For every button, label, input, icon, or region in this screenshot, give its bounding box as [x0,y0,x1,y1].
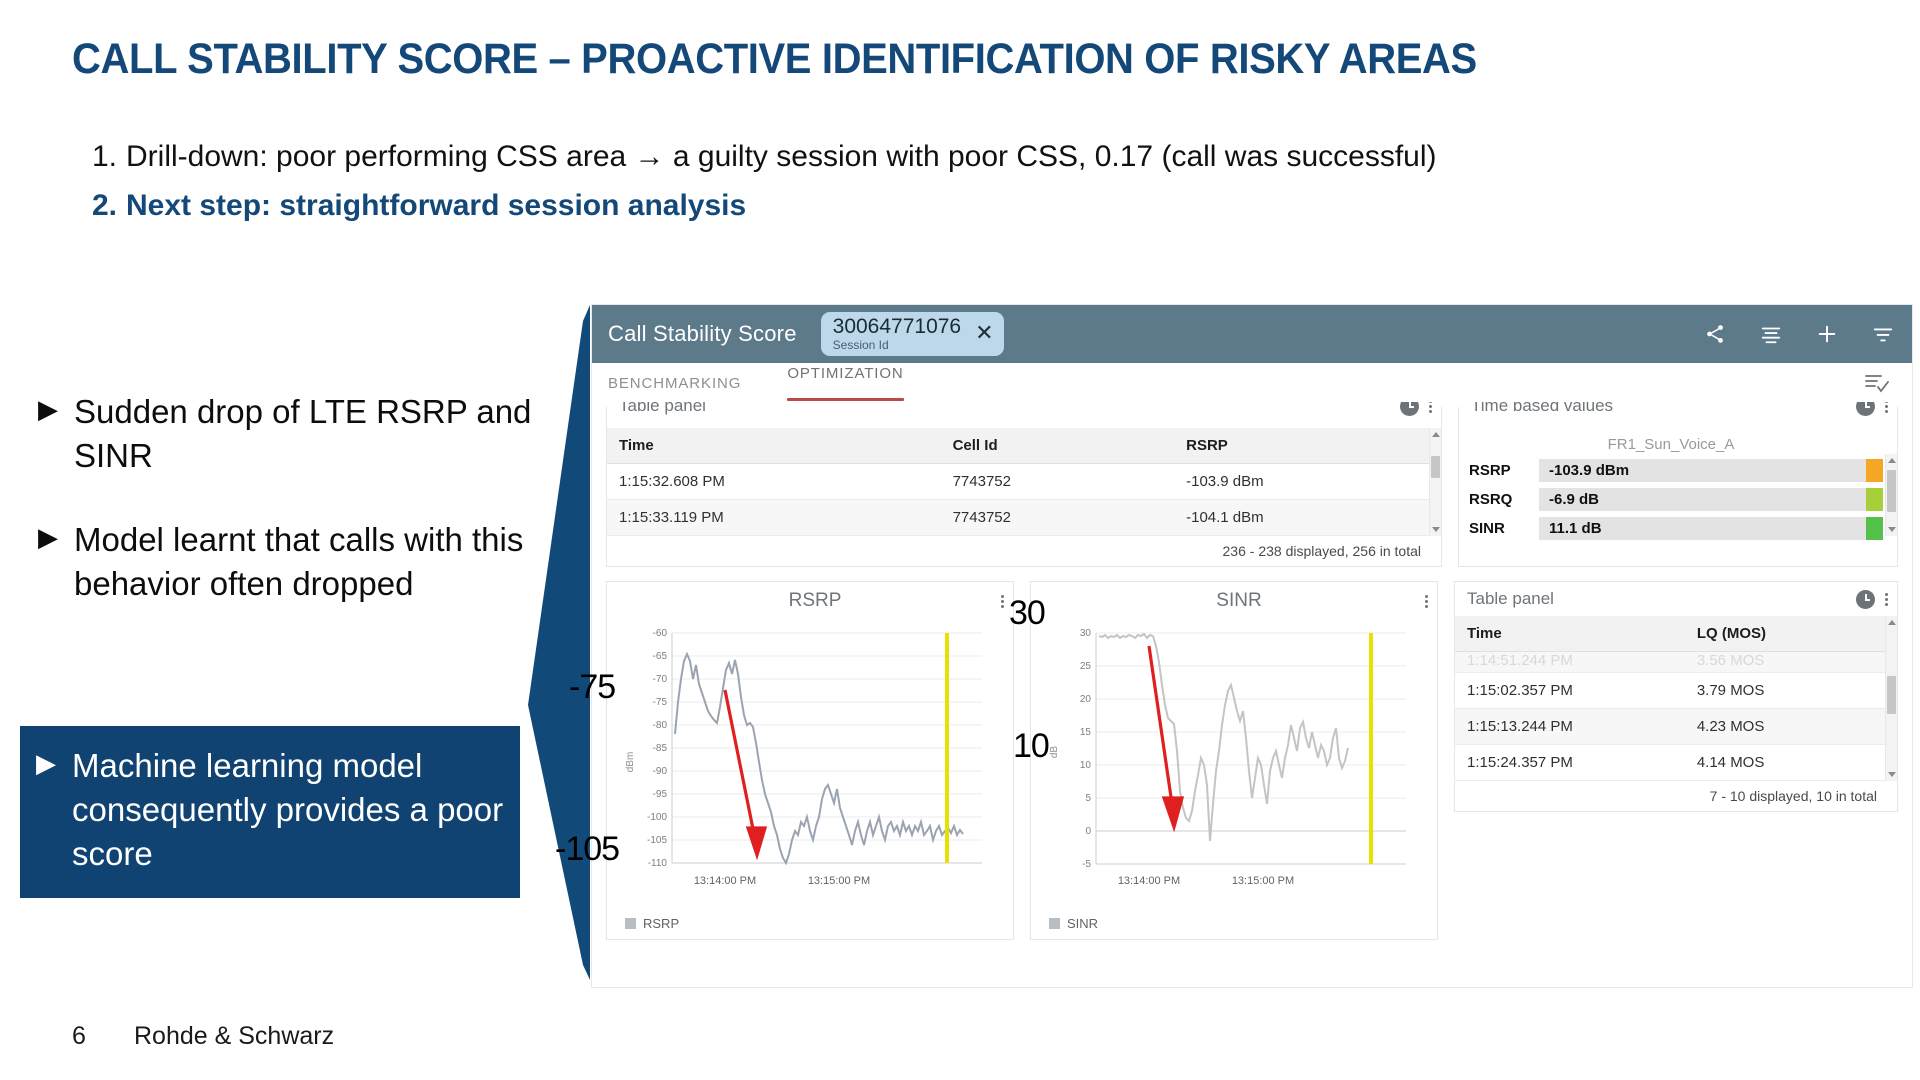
svg-text:30: 30 [1080,628,1092,639]
tbv-status-cap [1866,517,1883,540]
panel-title: Table panel [1467,589,1554,609]
svg-text:-75: -75 [653,697,668,708]
svg-text:-85: -85 [653,743,668,754]
share-icon[interactable] [1704,323,1726,345]
list-number: 2. [92,185,126,227]
cell-time: 1:14:51.244 PM [1455,652,1685,673]
bullet-list: ▶ Sudden drop of LTE RSRP and SINR ▶ Mod… [38,390,548,646]
chart-legend: SINR [1031,912,1437,939]
app-header-actions [1704,323,1898,345]
svg-text:-5: -5 [1082,859,1091,870]
scrollbar-thumb[interactable] [1887,470,1896,512]
annotation-rsrp-high: -75 [569,668,615,707]
column-header-time[interactable]: Time [607,428,941,464]
cell-mos: 3.56 MOS [1685,652,1897,673]
table-row[interactable]: 1:15:24.357 PM 4.14 MOS [1455,745,1897,781]
bullet-text: Machine learning model consequently prov… [72,744,504,876]
svg-text:13:14:00 PM: 13:14:00 PM [1118,875,1180,887]
app-header: Call Stability Score 30064771076 Session… [592,305,1912,363]
highlight-callout-box: ▶ Machine learning model consequently pr… [20,726,520,898]
legend-swatch-sinr [1049,918,1060,929]
annotation-rsrp-low: -105 [555,830,619,869]
kebab-menu-icon[interactable] [1001,595,1005,608]
clock-icon[interactable] [1856,402,1875,416]
svg-text:10: 10 [1080,760,1092,771]
column-header-lq-mos[interactable]: LQ (MOS) [1685,616,1897,652]
tbv-value: 11.1 dB [1539,520,1602,537]
table-row[interactable]: 1:15:13.244 PM 4.23 MOS [1455,709,1897,745]
tbv-value: -103.9 dBm [1539,462,1629,479]
align-list-icon[interactable] [1760,323,1782,345]
cell-cellid: 7743752 [941,464,1175,500]
panel-row-bottom: RSRP -60 -65 -70 -75 -80 -85 -90 -9 [592,567,1912,940]
scroll-down-arrow-icon[interactable] [1888,527,1896,532]
brand-name: Rohde & Schwarz [134,1022,334,1050]
kebab-menu-icon[interactable] [1885,402,1889,413]
filter-icon[interactable] [1872,323,1894,345]
close-icon[interactable]: ✕ [975,322,993,344]
vertical-scrollbar[interactable] [1885,454,1897,536]
callout-pointer-arrow [528,305,590,980]
legend-swatch-rsrp [625,918,636,929]
table-row[interactable]: 1:15:32.608 PM 7743752 -103.9 dBm [607,464,1441,500]
cell-rsrp: -104.1 dBm [1174,500,1441,536]
panel-header: Table panel [607,402,1441,428]
slide-footer: 6Rohde & Schwarz [72,1022,334,1051]
table-row[interactable]: 1:15:02.357 PM 3.79 MOS [1455,673,1897,709]
tbv-row-rsrq: RSRQ -6.9 dB [1459,488,1883,511]
panel-title: Time based values [1471,402,1613,416]
svg-text:-70: -70 [653,674,668,685]
scroll-down-arrow-icon[interactable] [1888,772,1896,777]
vertical-scrollbar[interactable] [1885,616,1897,781]
triangle-bullet-icon: ▶ [38,392,68,427]
panel-row-top: Table panel Time Cell Id RSRP [592,401,1912,567]
scroll-up-arrow-icon[interactable] [1888,620,1896,625]
cell-mos: 4.14 MOS [1685,745,1897,781]
svg-text:5: 5 [1085,793,1091,804]
bullet-item-poor-score: ▶ Machine learning model consequently pr… [36,744,504,876]
cell-time: 1:15:32.608 PM [607,464,941,500]
chart-title: RSRP [607,590,1001,612]
cell-time: 1:15:33.119 PM [607,500,941,536]
session-id-label: Session Id [833,339,961,352]
column-header-cellid[interactable]: Cell Id [941,428,1175,464]
page-number: 6 [72,1022,134,1051]
svg-text:0: 0 [1085,826,1091,837]
cell-time: 1:15:02.357 PM [1455,673,1685,709]
bullet-text: Model learnt that calls with this behavi… [74,518,548,606]
chart-plot-area: -60 -65 -70 -75 -80 -85 -90 -95 -100 -10… [607,612,1013,912]
svg-text:dBm: dBm [625,752,636,773]
svg-text:13:14:00 PM: 13:14:00 PM [694,875,756,887]
legend-label-rsrp: RSRP [643,916,679,931]
table-header-row: Time LQ (MOS) [1455,616,1897,652]
tbv-column-header: FR1_Sun_Voice_A [1459,428,1883,459]
svg-text:-105: -105 [647,835,667,846]
chart-header: SINR [1031,582,1437,612]
table-row[interactable]: 1:15:33.119 PM 7743752 -104.1 dBm [607,500,1441,536]
triangle-bullet-icon: ▶ [36,746,66,781]
bullet-item-rsrp-sinr-drop: ▶ Sudden drop of LTE RSRP and SINR [38,390,548,478]
tab-benchmarking[interactable]: BENCHMARKING [608,375,741,396]
chart-panel-rsrp: RSRP -60 -65 -70 -75 -80 -85 -90 -9 [606,581,1014,940]
annotation-sinr-high: 30 [1009,594,1045,633]
chart-legend: RSRP [607,912,1013,939]
svg-text:-90: -90 [653,766,668,777]
chart-plot-area: 30 25 20 15 10 5 0 -5 dB [1031,612,1437,912]
triangle-bullet-icon: ▶ [38,520,68,555]
list-number: 1. [92,136,126,178]
numbered-list-item: 1. Drill-down: poor performing CSS area … [92,136,1852,178]
chart-title: SINR [1031,590,1425,612]
time-based-values-panel: Time based values FR1_Sun_Voice_A RSRP -… [1458,401,1898,567]
clock-icon[interactable] [1856,590,1875,609]
panel-header: Time based values [1459,402,1897,428]
cell-mos: 3.79 MOS [1685,673,1897,709]
vertical-scrollbar[interactable] [1429,428,1441,536]
tbv-row-rsrp: RSRP -103.9 dBm [1459,459,1883,482]
bullet-text: Sudden drop of LTE RSRP and SINR [74,390,548,478]
tbv-label: SINR [1469,520,1539,537]
plus-icon[interactable] [1816,323,1838,345]
clock-icon[interactable] [1400,402,1419,416]
table-scroll-region: Time Cell Id RSRP 1:15:32.608 PM 7743752… [607,428,1441,536]
cell-cellid: 7743752 [941,500,1175,536]
embedded-app-screenshot: Call Stability Score 30064771076 Session… [592,305,1912,987]
data-table: Time LQ (MOS) 1:14:51.244 PM 3.56 MOS 1:… [1455,616,1897,781]
scrollbar-thumb[interactable] [1431,456,1440,478]
annotation-sinr-low: 10 [1013,727,1049,766]
page-title: CALL STABILITY SCORE – PROACTIVE IDENTIF… [72,36,1727,82]
rsrp-line-chart: -60 -65 -70 -75 -80 -85 -90 -95 -100 -10… [607,612,1013,912]
list-check-icon[interactable] [1864,372,1912,399]
tbv-row-sinr: SINR 11.1 dB [1459,517,1883,540]
column-header-rsrp[interactable]: RSRP [1174,428,1441,464]
tab-bar: BENCHMARKING OPTIMIZATION [592,363,1912,407]
bullet-item-model-learnt: ▶ Model learnt that calls with this beha… [38,518,548,606]
session-id-chip[interactable]: 30064771076 Session Id ✕ [821,312,1004,357]
svg-text:dB: dB [1049,746,1060,759]
svg-text:-80: -80 [653,720,668,731]
numbered-list-item: 2. Next step: straightforward session an… [92,185,1852,227]
session-id-value: 30064771076 [833,316,961,338]
list-text: Next step: straightforward session analy… [126,185,746,227]
tbv-status-cap [1866,459,1883,482]
cell-mos: 4.23 MOS [1685,709,1897,745]
svg-text:25: 25 [1080,661,1092,672]
svg-text:-110: -110 [648,858,668,869]
svg-text:-95: -95 [653,789,668,800]
table-footer-count: 236 - 238 displayed, 256 in total [607,536,1441,566]
chart-panel-sinr: SINR 30 25 20 15 10 5 0 -5 [1030,581,1438,940]
kebab-menu-icon[interactable] [1885,593,1889,606]
scrollbar-thumb[interactable] [1887,676,1896,714]
tbv-value: -6.9 dB [1539,491,1599,508]
column-header-time[interactable]: Time [1455,616,1685,652]
kebab-menu-icon[interactable] [1429,402,1433,413]
tbv-status-cap [1866,488,1883,511]
tbv-label: RSRP [1469,462,1539,479]
svg-text:15: 15 [1080,727,1092,738]
legend-label-sinr: SINR [1067,916,1098,931]
numbered-list: 1. Drill-down: poor performing CSS area … [92,136,1852,227]
panel-title: Table panel [619,402,706,416]
tbv-bar: -6.9 dB [1539,488,1883,511]
scroll-up-arrow-icon[interactable] [1432,432,1440,437]
tbv-label: RSRQ [1469,491,1539,508]
table-row-partial[interactable]: 1:14:51.244 PM 3.56 MOS [1455,652,1897,673]
svg-text:-60: -60 [653,628,668,639]
tab-optimization[interactable]: OPTIMIZATION [787,365,903,405]
tbv-bar: -103.9 dBm [1539,459,1883,482]
slide-root: CALL STABILITY SCORE – PROACTIVE IDENTIF… [0,0,1920,1080]
scroll-down-arrow-icon[interactable] [1432,527,1440,532]
cell-time: 1:15:13.244 PM [1455,709,1685,745]
app-title: Call Stability Score [608,321,797,347]
tbv-bar: 11.1 dB [1539,517,1883,540]
sinr-line-chart: 30 25 20 15 10 5 0 -5 dB [1031,612,1437,912]
table-scroll-region: Time LQ (MOS) 1:14:51.244 PM 3.56 MOS 1:… [1455,616,1897,781]
list-text: Drill-down: poor performing CSS area → a… [126,136,1437,178]
svg-text:-65: -65 [653,651,668,662]
panel-header: Table panel [1455,582,1897,616]
svg-text:13:15:00 PM: 13:15:00 PM [808,875,870,887]
data-table: Time Cell Id RSRP 1:15:32.608 PM 7743752… [607,428,1441,536]
table-header-row: Time Cell Id RSRP [607,428,1441,464]
kebab-menu-icon[interactable] [1425,595,1429,608]
svg-text:-100: -100 [647,812,667,823]
table-panel-mos: Table panel Time LQ (MOS) [1454,581,1898,812]
table-footer-count: 7 - 10 displayed, 10 in total [1455,781,1897,811]
cell-rsrp: -103.9 dBm [1174,464,1441,500]
scroll-up-arrow-icon[interactable] [1888,458,1896,463]
cell-time: 1:15:24.357 PM [1455,745,1685,781]
table-panel-rsrp: Table panel Time Cell Id RSRP [606,401,1442,567]
chart-header: RSRP [607,582,1013,612]
svg-text:13:15:00 PM: 13:15:00 PM [1232,875,1294,887]
svg-text:20: 20 [1080,694,1092,705]
